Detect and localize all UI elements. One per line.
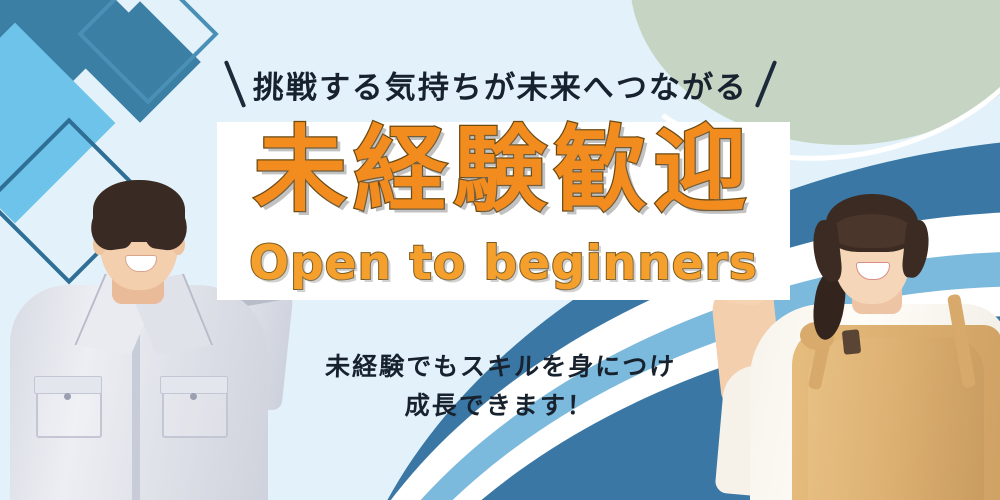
slash-right-icon bbox=[754, 60, 776, 108]
headline-text: 未経験歓迎 bbox=[217, 118, 790, 222]
footnote-block: 未経験でもスキルを身につけ 成長できます！ bbox=[0, 348, 1000, 426]
footnote-line-2: 成長できます！ bbox=[0, 387, 1000, 426]
tagline-text: 挑戦する気持ちが未来へつながる bbox=[252, 62, 749, 107]
headline-panel: 未経験歓迎 Open to beginners bbox=[217, 122, 790, 300]
female-hair-side-right bbox=[901, 219, 931, 279]
female-bangs bbox=[832, 214, 912, 248]
recruitment-banner: 挑戦する気持ちが未来へつながる 未経験歓迎 Open to beginners … bbox=[0, 0, 1000, 500]
tagline-row: 挑戦する気持ちが未来へつながる bbox=[0, 56, 1000, 112]
footnote-line-1: 未経験でもスキルを身につけ bbox=[0, 348, 1000, 387]
slash-left-icon bbox=[223, 60, 245, 108]
subhead-text: Open to beginners bbox=[217, 240, 790, 287]
